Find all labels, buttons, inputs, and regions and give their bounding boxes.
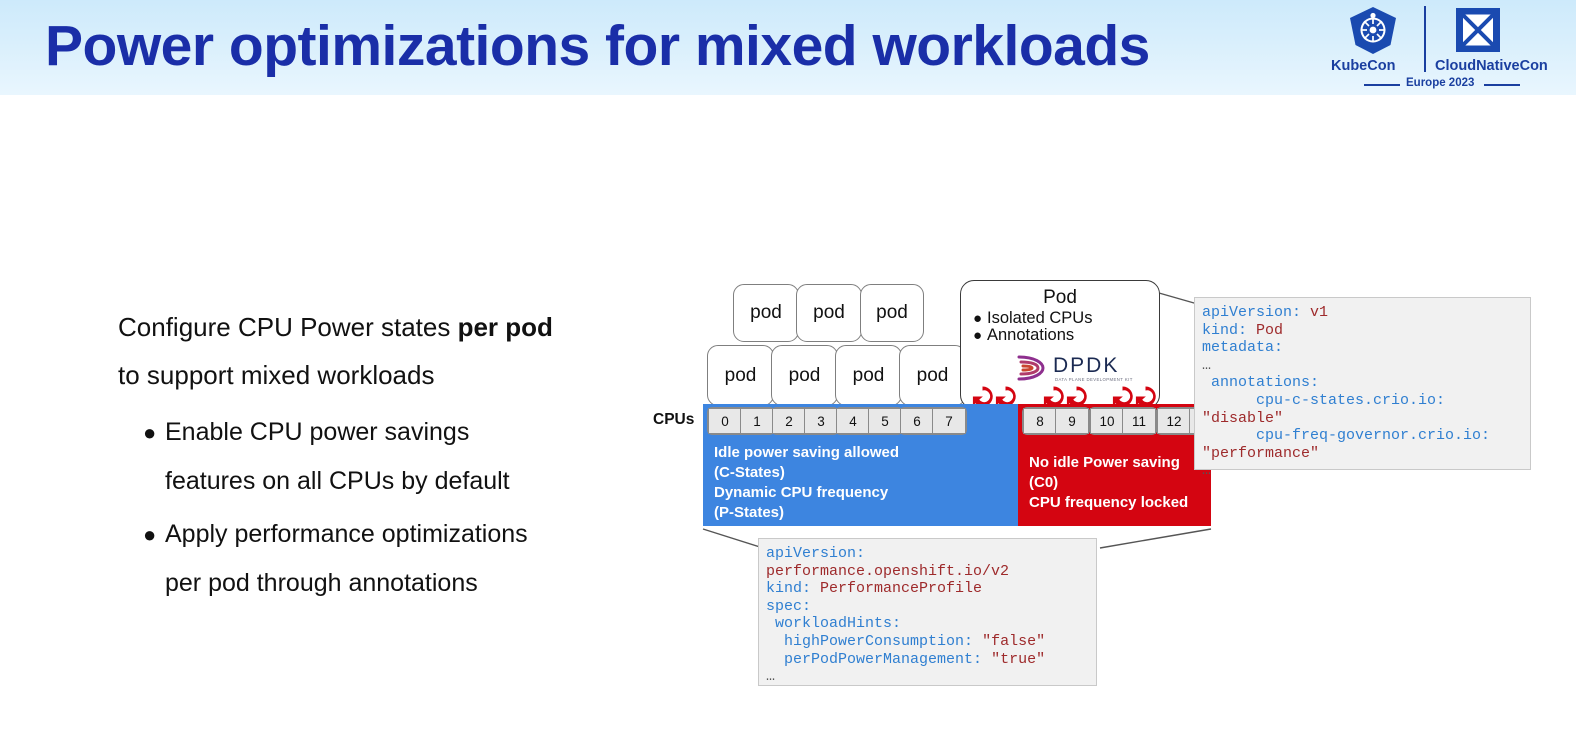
code-token <box>811 580 820 597</box>
code-token: annotations: <box>1202 374 1319 391</box>
code-token: highPowerConsumption: <box>766 633 973 650</box>
code-token: apiVersion: <box>766 545 865 562</box>
kubecon-cloudnativecon-logo: KubeCon CloudNativeCon Europe 2023 <box>1327 4 1557 90</box>
page-title: Power optimizations for mixed workloads <box>45 13 1150 79</box>
cpu-cell: 1 <box>740 408 774 434</box>
cpu-cell: 3 <box>804 408 838 434</box>
code-token: metadata: <box>1202 339 1283 356</box>
isolated-pod-item-label: Isolated CPUs <box>987 309 1092 327</box>
code-token: apiVersion: <box>1202 304 1301 321</box>
pod-box: pod <box>796 284 862 342</box>
cpus-label: CPUs <box>653 411 694 429</box>
kubernetes-helm-icon <box>1345 6 1401 54</box>
slide-header: Power optimizations for mixed workloads <box>0 0 1576 95</box>
cpu-cell: 2 <box>772 408 806 434</box>
lead-paragraph: Configure CPU Power states per pod to su… <box>118 303 568 399</box>
isolated-band-line: No idle Power saving <box>1029 453 1211 473</box>
code-token: workloadHints: <box>766 615 901 632</box>
cpu-cell: 6 <box>900 408 934 434</box>
code-token: … <box>766 668 775 685</box>
isolated-pod-title: Pod <box>961 287 1159 309</box>
code-token: cpu-freq-governor.crio.io: <box>1202 427 1490 444</box>
code-token: kind: <box>1202 322 1247 339</box>
pod-box: pod <box>835 345 902 406</box>
shared-band-line: Idle power saving allowed <box>714 443 1018 463</box>
cpu-cell: 0 <box>708 408 742 434</box>
shared-cpu-band: Idle power saving allowed (C-States) Dyn… <box>703 436 1018 526</box>
code-token: kind: <box>766 580 811 597</box>
bullet-marker-icon: ● <box>140 510 165 608</box>
code-token: "disable" <box>1202 410 1283 427</box>
pod-label: pod <box>813 302 845 324</box>
pod-box: pod <box>899 345 966 406</box>
code-token <box>982 651 991 668</box>
pod-label: pod <box>789 365 821 387</box>
code-token: "true" <box>991 651 1045 668</box>
code-token: Pod <box>1256 322 1283 339</box>
bullet-list: ● Enable CPU power savings features on a… <box>140 408 560 612</box>
pod-yaml-content: apiVersion: v1 kind: Pod metadata: … ann… <box>1202 304 1490 479</box>
performanceprofile-yaml-content: apiVersion: performance.openshift.io/v2 … <box>766 545 1045 685</box>
logo-rule-right <box>1484 84 1520 86</box>
pod-box: pod <box>771 345 838 406</box>
logo-cloudnativecon-label: CloudNativeCon <box>1435 58 1548 74</box>
pod-box: pod <box>860 284 924 342</box>
code-token: cpu-c-states.crio.io: <box>1202 392 1445 409</box>
logo-divider <box>1424 6 1426 72</box>
dpdk-wordmark: DPDK <box>1053 354 1119 378</box>
shared-band-line: (C-States) <box>714 463 1018 483</box>
code-token: … <box>1202 357 1211 374</box>
logo-kubecon-label: KubeCon <box>1331 58 1395 74</box>
pod-label: pod <box>917 365 949 387</box>
code-token: … <box>1202 462 1211 479</box>
pod-box: pod <box>733 284 799 342</box>
cpu-cell: 12 <box>1157 408 1191 434</box>
list-item-label: Apply performance optimizations per pod … <box>165 510 560 608</box>
code-token: performance.openshift.io/v2 <box>766 563 1009 580</box>
bullet-marker-icon: ● <box>140 408 165 506</box>
list-item: ● Apply performance optimizations per po… <box>140 510 560 608</box>
logo-event-label: Europe 2023 <box>1406 77 1474 89</box>
logo-rule-left <box>1364 84 1400 86</box>
pod-yaml-code-block: apiVersion: v1 kind: Pod metadata: … ann… <box>1194 297 1531 470</box>
code-token <box>1445 392 1454 409</box>
shared-band-line: Dynamic CPU frequency <box>714 483 1018 503</box>
lead-text-bold: per pod <box>458 312 553 342</box>
code-token: perPodPowerManagement: <box>766 651 982 668</box>
isolated-pod-item: ●Annotations <box>973 326 1074 345</box>
logo-marks-row <box>1327 4 1557 60</box>
isolated-band-line: (C0) <box>1029 473 1211 493</box>
dpdk-logo: DPDK DATA PLANE DEVELOPMENT KIT <box>1013 353 1138 387</box>
isolated-pod-box: Pod ●Isolated CPUs ●Annotations DPDK DAT… <box>960 280 1160 409</box>
cloudnativecon-icon <box>1452 6 1504 54</box>
performanceprofile-yaml-code-block: apiVersion: performance.openshift.io/v2 … <box>758 538 1097 686</box>
pod-label: pod <box>853 365 885 387</box>
cpu-cell: 5 <box>868 408 902 434</box>
pod-label: pod <box>750 302 782 324</box>
code-token: v1 <box>1310 304 1328 321</box>
code-token: spec: <box>766 598 811 615</box>
code-token <box>1301 304 1310 321</box>
dpdk-swirl-icon <box>1013 353 1051 383</box>
code-token <box>1247 322 1256 339</box>
pod-box: pod <box>707 345 774 406</box>
isolated-band-line: CPU frequency locked <box>1029 493 1211 513</box>
cpu-cell: 4 <box>836 408 870 434</box>
isolated-cpu-band: No idle Power saving (C0) CPU frequency … <box>1018 436 1211 526</box>
logo-event-row: Europe 2023 <box>1327 78 1557 90</box>
pod-label: pod <box>876 302 908 324</box>
bullet-marker-icon: ● <box>973 327 987 344</box>
code-token: "false" <box>982 633 1045 650</box>
cpu-cell: 8 <box>1023 408 1057 434</box>
list-item: ● Enable CPU power savings features on a… <box>140 408 560 506</box>
code-token: PerformanceProfile <box>820 580 982 597</box>
lead-text-2: to support mixed workloads <box>118 360 434 390</box>
cpu-cell: 11 <box>1122 408 1156 434</box>
lead-text-1: Configure CPU Power states <box>118 312 458 342</box>
bullet-marker-icon: ● <box>973 310 987 327</box>
list-item-label: Enable CPU power savings features on all… <box>165 408 560 506</box>
cpu-cell: 7 <box>932 408 966 434</box>
cpu-cell: 10 <box>1090 408 1124 434</box>
code-token <box>973 633 982 650</box>
isolated-pod-item-label: Annotations <box>987 326 1074 344</box>
shared-band-line: (P-States) <box>714 503 1018 523</box>
cpu-cell: 9 <box>1055 408 1089 434</box>
code-token: "performance" <box>1202 445 1319 462</box>
pod-label: pod <box>725 365 757 387</box>
dpdk-tagline: DATA PLANE DEVELOPMENT KIT <box>1055 377 1133 382</box>
